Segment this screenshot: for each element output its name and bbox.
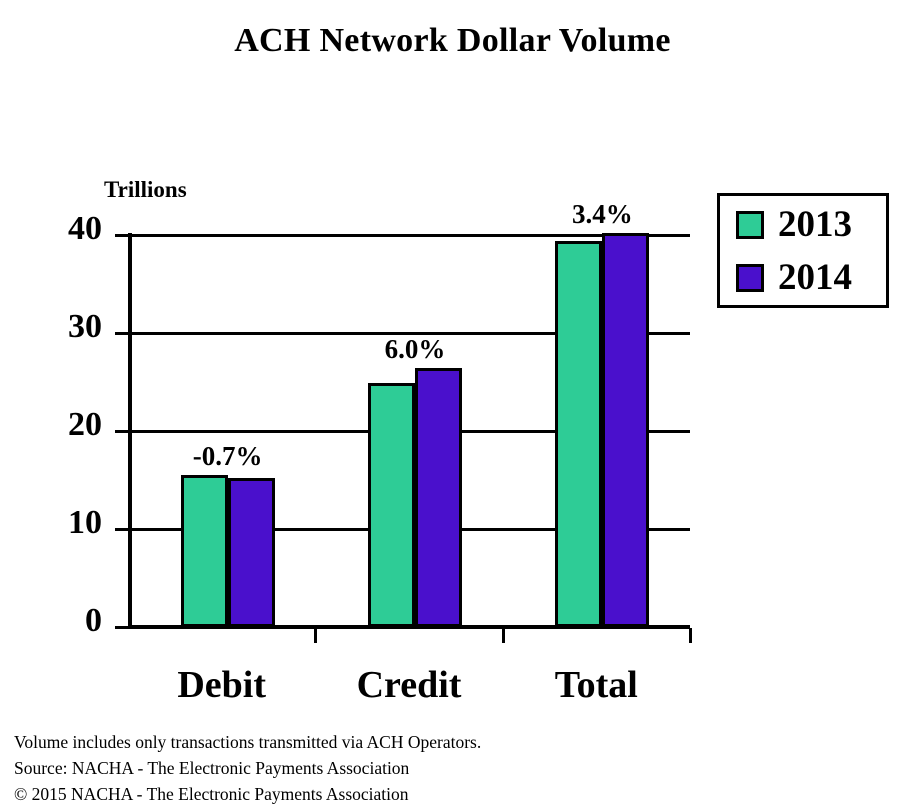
category-label-credit: Credit xyxy=(309,663,509,707)
y-tick-10 xyxy=(115,528,129,531)
footnotes: Volume includes only transactions transm… xyxy=(14,730,481,808)
bar-debit-2013[interactable] xyxy=(181,475,228,627)
growth-label-credit: 6.0% xyxy=(315,334,515,365)
x-axis-separator-3 xyxy=(689,628,692,643)
y-tick-30 xyxy=(115,332,129,335)
y-tick-40 xyxy=(115,234,129,237)
legend-swatch-2014 xyxy=(736,264,764,292)
bar-debit-2014[interactable] xyxy=(228,478,275,627)
bar-credit-2013[interactable] xyxy=(368,383,415,627)
y-tick-0 xyxy=(115,626,129,629)
footnote-line-3: © 2015 NACHA - The Electronic Payments A… xyxy=(14,782,481,808)
bar-credit-2014[interactable] xyxy=(415,368,462,627)
category-label-debit: Debit xyxy=(122,663,322,707)
y-tick-20 xyxy=(115,430,129,433)
legend-item-2014[interactable]: 2014 xyxy=(736,259,852,296)
y-tick-label-30: 30 xyxy=(6,308,102,346)
y-axis-unit-label: Trillions xyxy=(104,177,187,203)
y-tick-label-0: 0 xyxy=(6,602,102,640)
footnote-line-2: Source: NACHA - The Electronic Payments … xyxy=(14,756,481,782)
y-tick-label-40: 40 xyxy=(6,210,102,248)
legend-label-2014: 2014 xyxy=(778,259,852,296)
chart-title: ACH Network Dollar Volume xyxy=(0,22,905,60)
growth-label-debit: -0.7% xyxy=(128,441,328,472)
x-axis-separator-1 xyxy=(314,628,317,643)
y-tick-label-10: 10 xyxy=(6,504,102,542)
legend-swatch-2013 xyxy=(736,211,764,239)
bar-total-2014[interactable] xyxy=(602,233,649,627)
footnote-line-1: Volume includes only transactions transm… xyxy=(14,730,481,756)
y-tick-label-20: 20 xyxy=(6,406,102,444)
bar-total-2013[interactable] xyxy=(555,241,602,627)
legend: 2013 2014 xyxy=(717,193,889,308)
x-axis-separator-2 xyxy=(502,628,505,643)
legend-label-2013: 2013 xyxy=(778,206,852,243)
legend-item-2013[interactable]: 2013 xyxy=(736,206,852,243)
plot-area xyxy=(128,235,690,627)
category-label-total: Total xyxy=(496,663,696,707)
growth-label-total: 3.4% xyxy=(502,199,702,230)
